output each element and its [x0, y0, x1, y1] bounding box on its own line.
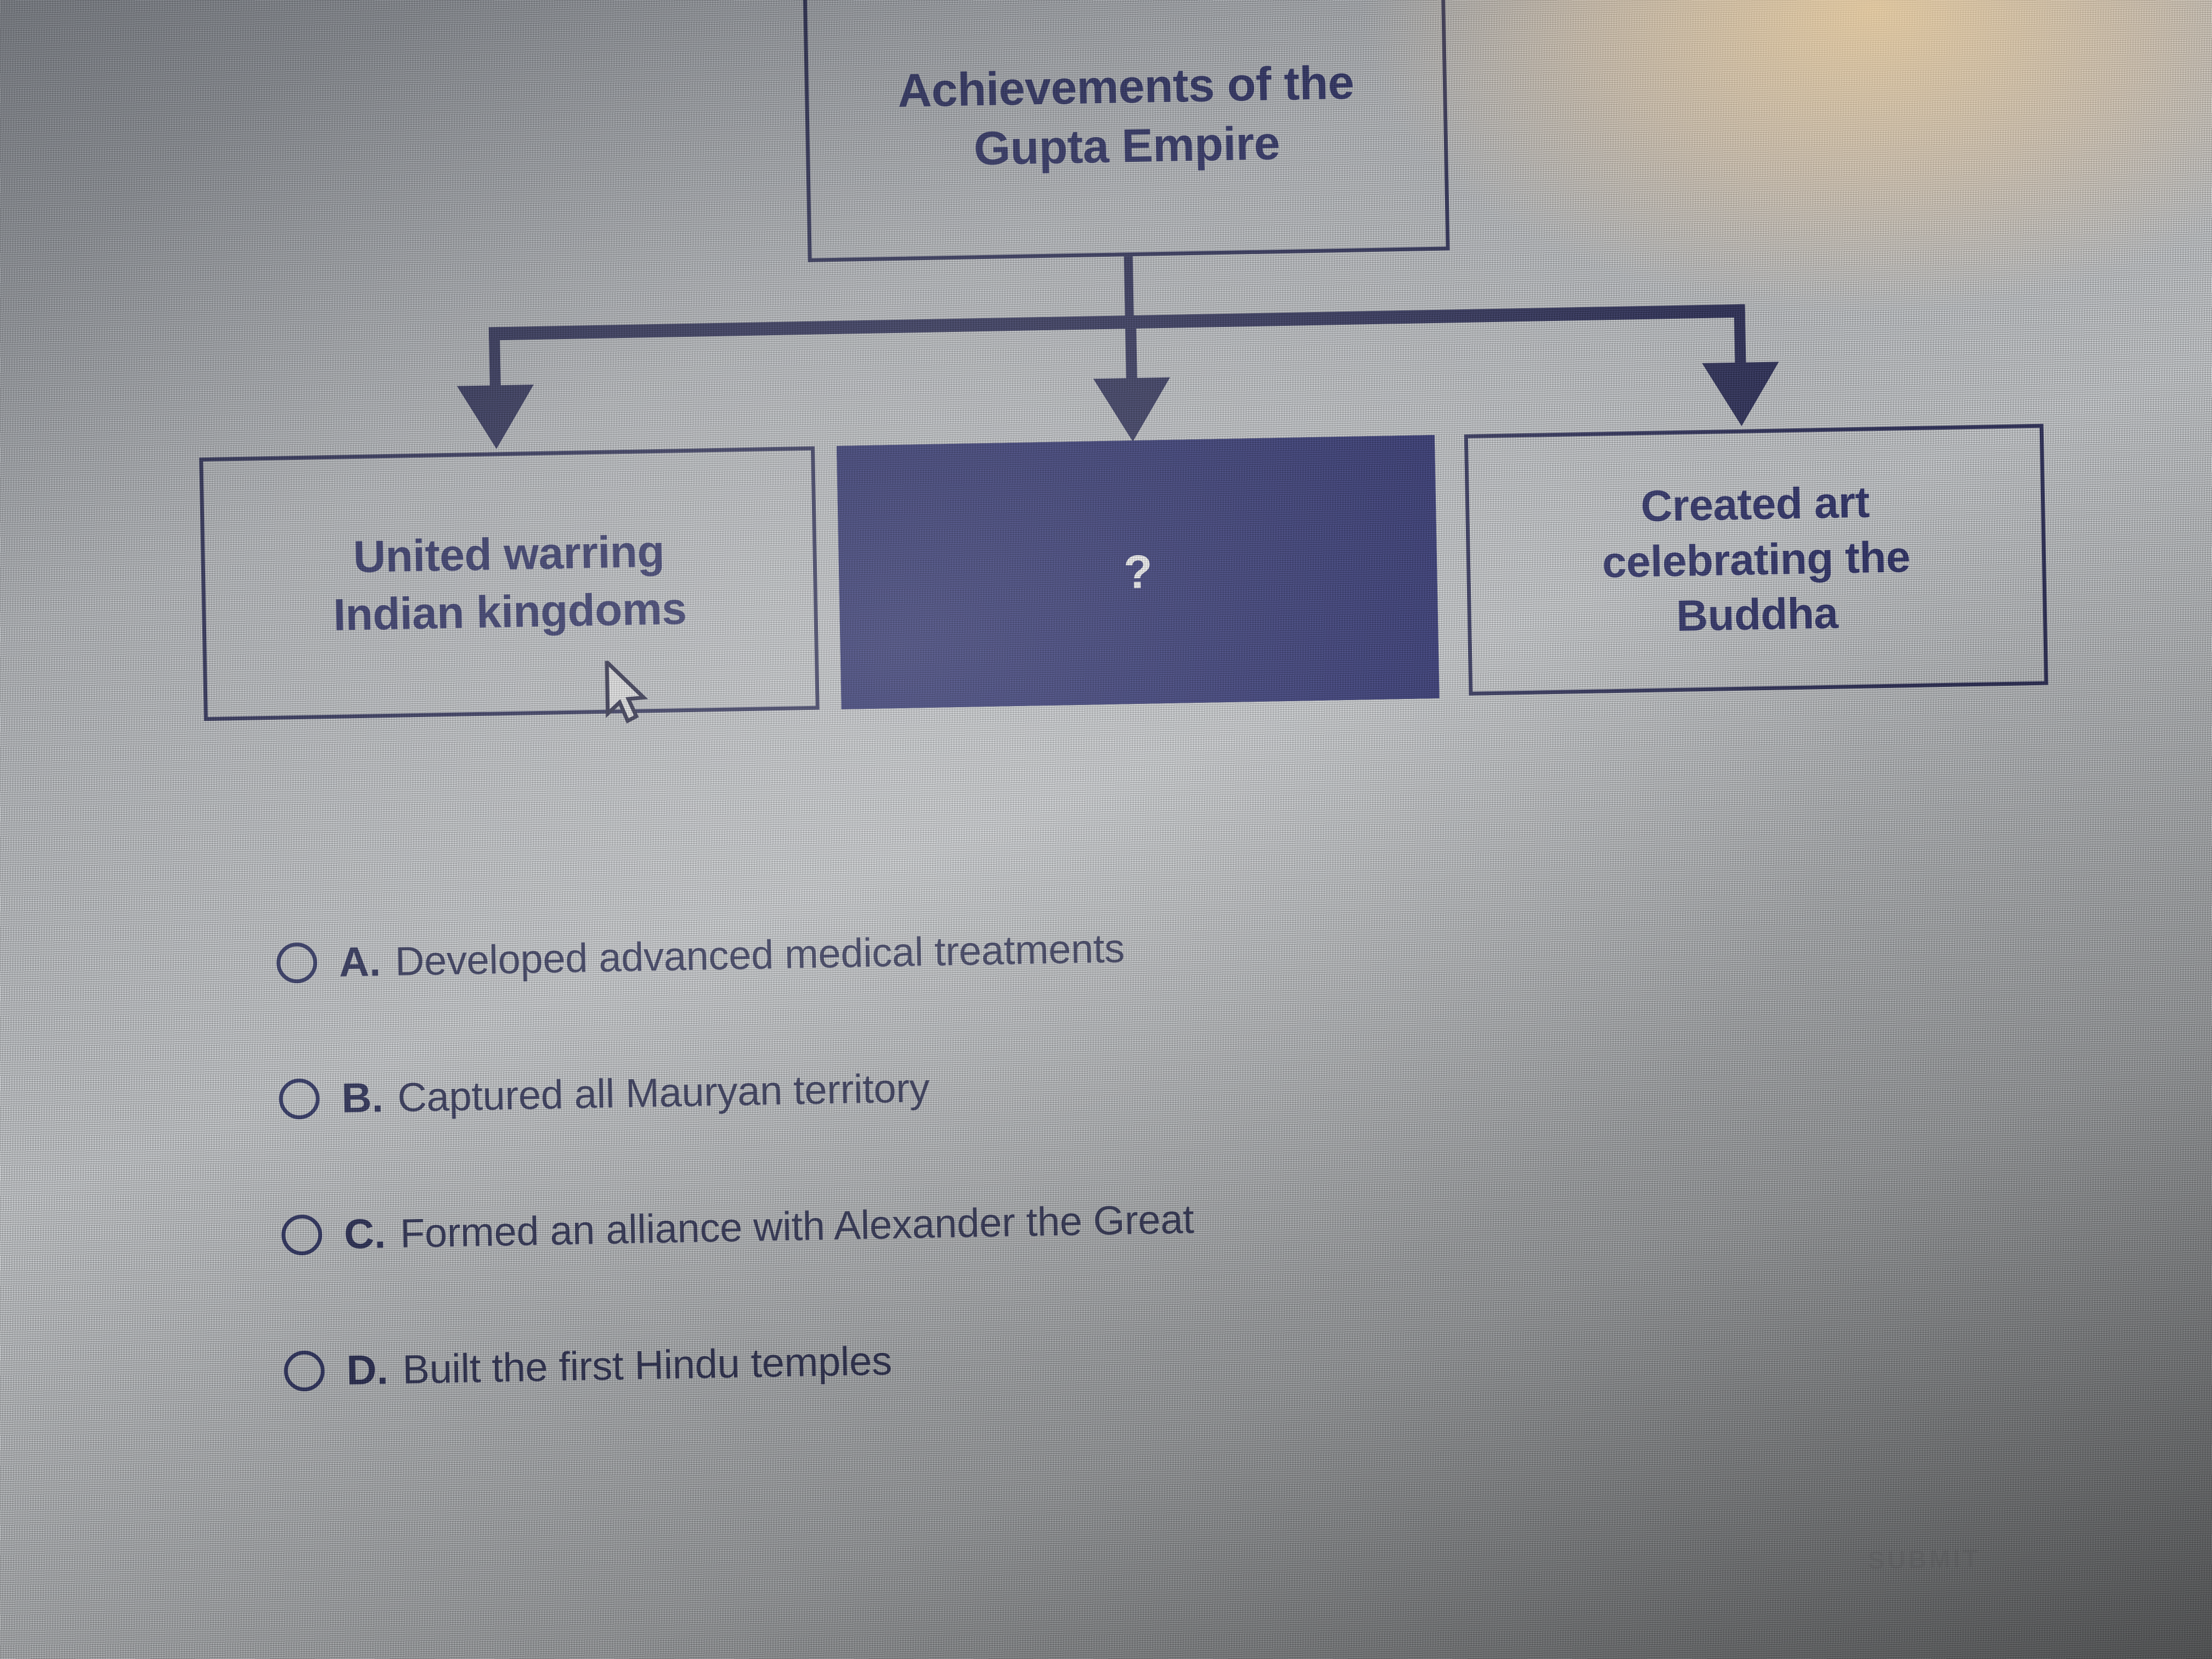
- monitor-screen: Achievements of theGupta Empire United w…: [0, 0, 2212, 1659]
- radio-button-a[interactable]: [276, 942, 317, 983]
- screen-photo: Achievements of theGupta Empire United w…: [0, 0, 2212, 1659]
- mouse-cursor-icon: [605, 660, 648, 725]
- answer-option-a-text: Developed advanced medical treatments: [394, 924, 1125, 984]
- connector-stem-top: [1124, 256, 1134, 322]
- connector-stem-left: [489, 327, 501, 392]
- diagram-box-right-text: Created artcelebrating theBuddha: [1469, 472, 2043, 648]
- radio-button-c[interactable]: [281, 1214, 322, 1255]
- connector-horizontal-bar: [489, 304, 1745, 341]
- diagram-box-right-line3: Buddha: [1676, 589, 1838, 640]
- quiz-content: Achievements of theGupta Empire United w…: [0, 0, 2212, 1659]
- answer-option-c[interactable]: C. Formed an alliance with Alexander the…: [281, 1180, 1872, 1262]
- radio-button-d[interactable]: [284, 1350, 325, 1391]
- answer-option-c-letter: C.: [343, 1210, 386, 1258]
- diagram-title-line1: Achievements of the: [897, 56, 1354, 117]
- answer-option-c-text: Formed an alliance with Alexander the Gr…: [399, 1195, 1194, 1257]
- diagram-title-text: Achievements of theGupta Empire: [808, 51, 1444, 182]
- diagram-box-left-line2: Indian kingdoms: [333, 584, 687, 640]
- answer-option-a[interactable]: A. Developed advanced medical treatments: [276, 908, 1867, 990]
- answer-option-d[interactable]: D. Built the first Hindu temples: [284, 1316, 1875, 1398]
- radio-button-b[interactable]: [279, 1078, 320, 1119]
- answer-option-b-letter: B.: [341, 1074, 384, 1122]
- answer-options-list: A. Developed advanced medical treatments…: [276, 908, 1877, 1481]
- diagram-box-right-line1: Created art: [1640, 477, 1870, 531]
- answer-option-b[interactable]: B. Captured all Mauryan territory: [279, 1044, 1870, 1126]
- answer-option-a-letter: A.: [338, 938, 381, 986]
- question-mark-placeholder: ?: [842, 540, 1434, 605]
- arrow-down-icon-right: [1702, 362, 1780, 427]
- diagram-title-box: Achievements of theGupta Empire: [803, 0, 1449, 262]
- connector-stem-right: [1734, 304, 1746, 369]
- submit-button[interactable]: SUBMIT: [1867, 1543, 1981, 1575]
- arrow-down-icon-center: [1093, 377, 1171, 443]
- diagram-title-line2: Gupta Empire: [973, 117, 1280, 175]
- answer-option-b-text: Captured all Mauryan territory: [397, 1064, 930, 1121]
- answer-option-d-letter: D.: [346, 1346, 389, 1394]
- diagram-box-left-line1: United warring: [353, 527, 665, 582]
- diagram-box-right-line2: celebrating the: [1601, 532, 1910, 586]
- diagram-box-left: United warringIndian kingdoms: [199, 447, 820, 721]
- diagram-box-center-unknown: ?: [837, 435, 1440, 709]
- answer-option-d-text: Built the first Hindu temples: [402, 1337, 892, 1392]
- arrow-down-icon-left: [457, 385, 535, 450]
- diagram-box-left-text: United warringIndian kingdoms: [205, 521, 815, 647]
- diagram-box-right: Created artcelebrating theBuddha: [1464, 424, 2049, 696]
